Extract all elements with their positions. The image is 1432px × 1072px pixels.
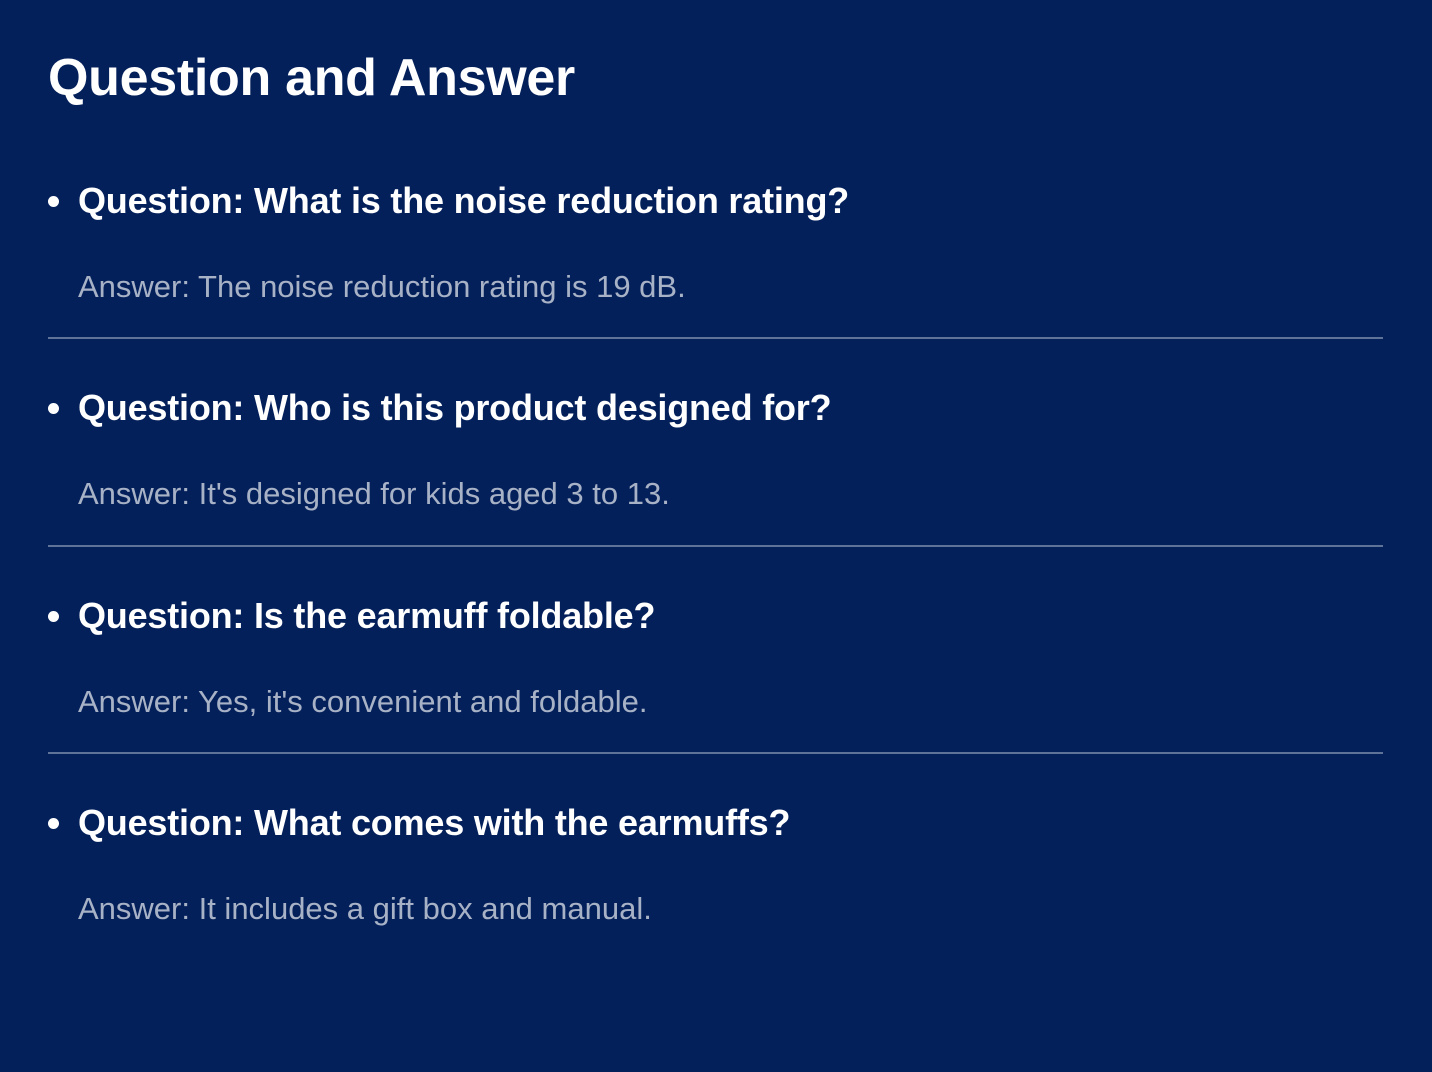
question-answer-spacer — [48, 430, 1383, 474]
divider-next-spacer — [48, 754, 1383, 800]
qa-item: Question: What comes with the earmuffs? … — [0, 800, 1432, 929]
qa-question-row: Question: Is the earmuff foldable? — [48, 593, 1383, 638]
bullet-dot-icon — [48, 818, 59, 829]
qa-answer-text: Answer: It's designed for kids aged 3 to… — [48, 474, 1383, 514]
answer-divider-spacer — [48, 307, 1383, 337]
qa-item: Question: Who is this product designed f… — [0, 385, 1432, 592]
qa-question-text: Question: What is the noise reduction ra… — [78, 178, 849, 223]
divider-next-spacer — [48, 339, 1383, 385]
bullet-dot-icon — [48, 196, 59, 207]
bullet-dot-icon — [48, 403, 59, 414]
page-title: Question and Answer — [0, 0, 1432, 104]
qa-answer-text: Answer: Yes, it's convenient and foldabl… — [48, 682, 1383, 722]
qa-question-text: Question: What comes with the earmuffs? — [78, 800, 790, 845]
divider-next-spacer — [48, 547, 1383, 593]
qa-page: Question and Answer Question: What is th… — [0, 0, 1432, 1072]
question-answer-spacer — [48, 223, 1383, 267]
qa-answer-text: Answer: It includes a gift box and manua… — [48, 889, 1383, 929]
qa-list: Question: What is the noise reduction ra… — [0, 178, 1432, 929]
qa-item: Question: Is the earmuff foldable? Answe… — [0, 593, 1432, 800]
answer-divider-spacer — [48, 722, 1383, 752]
qa-answer-text: Answer: The noise reduction rating is 19… — [48, 267, 1383, 307]
qa-question-text: Question: Who is this product designed f… — [78, 385, 831, 430]
question-answer-spacer — [48, 845, 1383, 889]
title-spacer — [0, 104, 1432, 178]
question-answer-spacer — [48, 638, 1383, 682]
qa-question-row: Question: Who is this product designed f… — [48, 385, 1383, 430]
bullet-dot-icon — [48, 611, 59, 622]
qa-question-row: Question: What is the noise reduction ra… — [48, 178, 1383, 223]
qa-item: Question: What is the noise reduction ra… — [0, 178, 1432, 385]
answer-divider-spacer — [48, 515, 1383, 545]
qa-question-row: Question: What comes with the earmuffs? — [48, 800, 1383, 845]
qa-question-text: Question: Is the earmuff foldable? — [78, 593, 655, 638]
